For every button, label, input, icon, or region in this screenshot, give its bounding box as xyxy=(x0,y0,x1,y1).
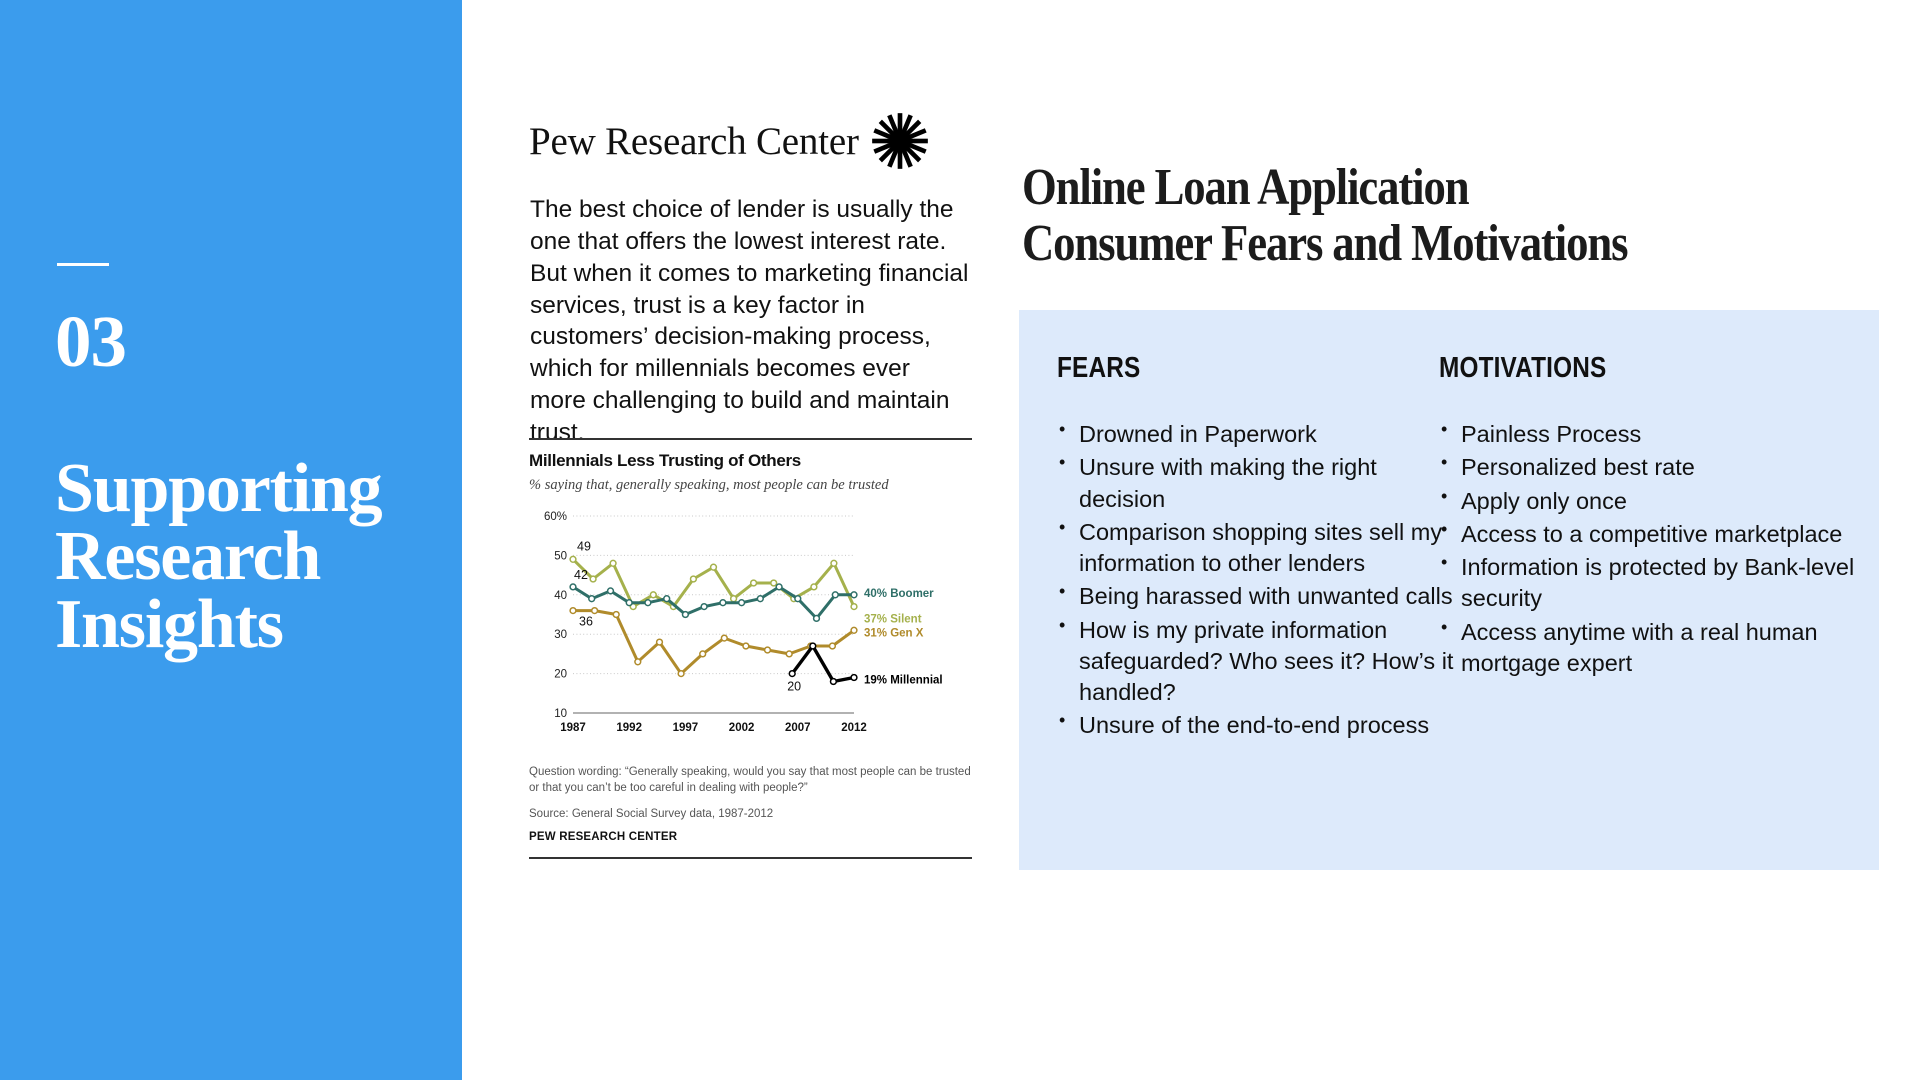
motivations-list-item: Access anytime with a real human mortgag… xyxy=(1439,617,1859,680)
x-axis-tick-label: 1987 xyxy=(560,722,586,734)
x-axis-tick-label: 2007 xyxy=(785,722,811,734)
series-point xyxy=(743,643,749,649)
series-line-gen-x xyxy=(573,611,854,674)
series-point xyxy=(645,600,651,606)
line-chart-svg: 60%504030201019871992199720022007201237%… xyxy=(529,508,972,753)
fears-list-item: Unsure of the end-to-end process xyxy=(1057,710,1457,741)
series-point xyxy=(814,616,820,622)
series-point xyxy=(795,596,801,602)
motivations-list-item: Painless Process xyxy=(1439,419,1859,450)
series-point xyxy=(570,608,576,614)
series-point xyxy=(664,596,670,602)
series-point xyxy=(771,580,777,586)
pew-logo: Pew Research Center xyxy=(529,110,979,172)
page-title-line1: Online Loan Application xyxy=(1022,159,1468,216)
series-point xyxy=(811,584,817,590)
motivations-list: Painless ProcessPersonalized best rateAp… xyxy=(1439,419,1859,679)
x-axis-tick-label: 1997 xyxy=(673,722,699,734)
motivations-column: MOTIVATIONS Painless ProcessPersonalized… xyxy=(1439,352,1859,681)
legend-label-millennial: 19% Millennial xyxy=(864,675,943,687)
motivations-list-item: Information is protected by Bank-level s… xyxy=(1439,552,1859,615)
pew-chart-card: Millennials Less Trusting of Others % sa… xyxy=(529,438,972,859)
series-point xyxy=(751,580,757,586)
series-point xyxy=(786,651,792,657)
series-point xyxy=(830,643,836,649)
series-point xyxy=(608,588,614,594)
series-point xyxy=(626,600,632,606)
legend-label-gen-x: 31% Gen X xyxy=(864,627,924,639)
legend-label-silent: 37% Silent xyxy=(864,614,922,626)
series-point xyxy=(610,560,616,566)
page-title: Online Loan Application Consumer Fears a… xyxy=(1022,160,1736,271)
series-point xyxy=(789,671,795,677)
chart-title: Millennials Less Trusting of Others xyxy=(529,451,972,471)
y-axis-tick-label: 60% xyxy=(544,511,567,523)
data-point-annotation: 42 xyxy=(574,568,588,582)
series-point xyxy=(701,604,707,610)
series-point xyxy=(635,659,641,665)
sidebar-divider-rule xyxy=(57,263,109,266)
chart-brand-credit: PEW RESEARCH CENTER xyxy=(529,831,972,843)
series-point xyxy=(731,596,737,602)
pew-research-column: Pew Research Center xyxy=(529,0,979,1080)
x-axis-tick-label: 1992 xyxy=(616,722,642,734)
series-point xyxy=(757,596,763,602)
fears-list: Drowned in PaperworkUnsure with making t… xyxy=(1057,419,1457,742)
pew-body-paragraph: The best choice of lender is usually the… xyxy=(530,194,972,449)
data-point-annotation: 36 xyxy=(579,615,593,629)
fears-list-item: Unsure with making the right decision xyxy=(1057,452,1457,515)
fears-column: FEARS Drowned in PaperworkUnsure with ma… xyxy=(1057,352,1457,744)
series-point xyxy=(711,564,717,570)
series-point xyxy=(683,612,689,618)
x-axis-tick-label: 2002 xyxy=(729,722,755,734)
fears-motivations-panel: FEARS Drowned in PaperworkUnsure with ma… xyxy=(1019,310,1879,870)
chart-bottom-rule xyxy=(529,857,972,859)
series-point xyxy=(592,608,598,614)
fears-list-item: Comparison shopping sites sell my inform… xyxy=(1057,517,1457,580)
data-point-annotation: 49 xyxy=(577,539,591,553)
slide-root: 03 Supporting Research Insights Pew Rese… xyxy=(0,0,1920,1080)
pew-starburst-icon xyxy=(871,112,929,170)
y-axis-tick-label: 50 xyxy=(554,550,567,562)
series-point xyxy=(700,651,706,657)
left-blue-panel: 03 Supporting Research Insights xyxy=(0,0,462,1080)
pew-wordmark: Pew Research Center xyxy=(529,119,859,164)
series-point xyxy=(851,675,857,681)
motivations-heading: MOTIVATIONS xyxy=(1439,352,1792,385)
series-point xyxy=(831,679,837,685)
x-axis-tick-label: 2012 xyxy=(841,722,867,734)
series-point xyxy=(851,604,857,610)
motivations-list-item: Personalized best rate xyxy=(1439,452,1859,483)
chart-top-rule xyxy=(529,438,972,440)
series-line-millennial xyxy=(792,646,854,682)
page-title-line2: Consumer Fears and Motivations xyxy=(1022,215,1627,272)
fears-list-item: Being harassed with unwanted calls xyxy=(1057,581,1457,612)
chart-question-note: Question wording: “Generally speaking, w… xyxy=(529,765,972,797)
chart-source: Source: General Social Survey data, 1987… xyxy=(529,808,972,820)
y-axis-tick-label: 40 xyxy=(554,590,567,602)
series-point xyxy=(570,556,576,562)
chart-subtitle: % saying that, generally speaking, most … xyxy=(529,477,972,494)
series-point xyxy=(810,643,816,649)
motivations-list-item: Access to a competitive marketplace xyxy=(1439,519,1859,550)
series-point xyxy=(832,592,838,598)
series-point xyxy=(721,635,727,641)
series-point xyxy=(851,627,857,633)
series-point xyxy=(678,671,684,677)
series-point xyxy=(657,639,663,645)
series-point xyxy=(720,600,726,606)
legend-label-boomer: 40% Boomer xyxy=(864,588,934,600)
series-point xyxy=(650,592,656,598)
motivations-list-item: Apply only once xyxy=(1439,486,1859,517)
series-point xyxy=(613,612,619,618)
series-point xyxy=(776,584,782,590)
series-point xyxy=(570,584,576,590)
fears-list-item: How is my private information safeguarde… xyxy=(1057,615,1457,709)
y-axis-tick-label: 20 xyxy=(554,669,567,681)
data-point-annotation: 20 xyxy=(787,680,801,694)
series-point xyxy=(851,592,857,598)
series-point xyxy=(739,600,745,606)
chart-plot-area: 60%504030201019871992199720022007201237%… xyxy=(529,508,972,753)
series-point xyxy=(691,576,697,582)
section-number: 03 xyxy=(55,305,126,378)
series-point xyxy=(765,647,771,653)
series-point xyxy=(590,576,596,582)
y-axis-tick-label: 30 xyxy=(554,629,567,641)
fears-heading: FEARS xyxy=(1057,352,1393,385)
section-title: Supporting Research Insights xyxy=(55,455,455,659)
series-point xyxy=(831,560,837,566)
y-axis-tick-label: 10 xyxy=(554,708,567,720)
series-point xyxy=(589,596,595,602)
fears-list-item: Drowned in Paperwork xyxy=(1057,419,1457,450)
